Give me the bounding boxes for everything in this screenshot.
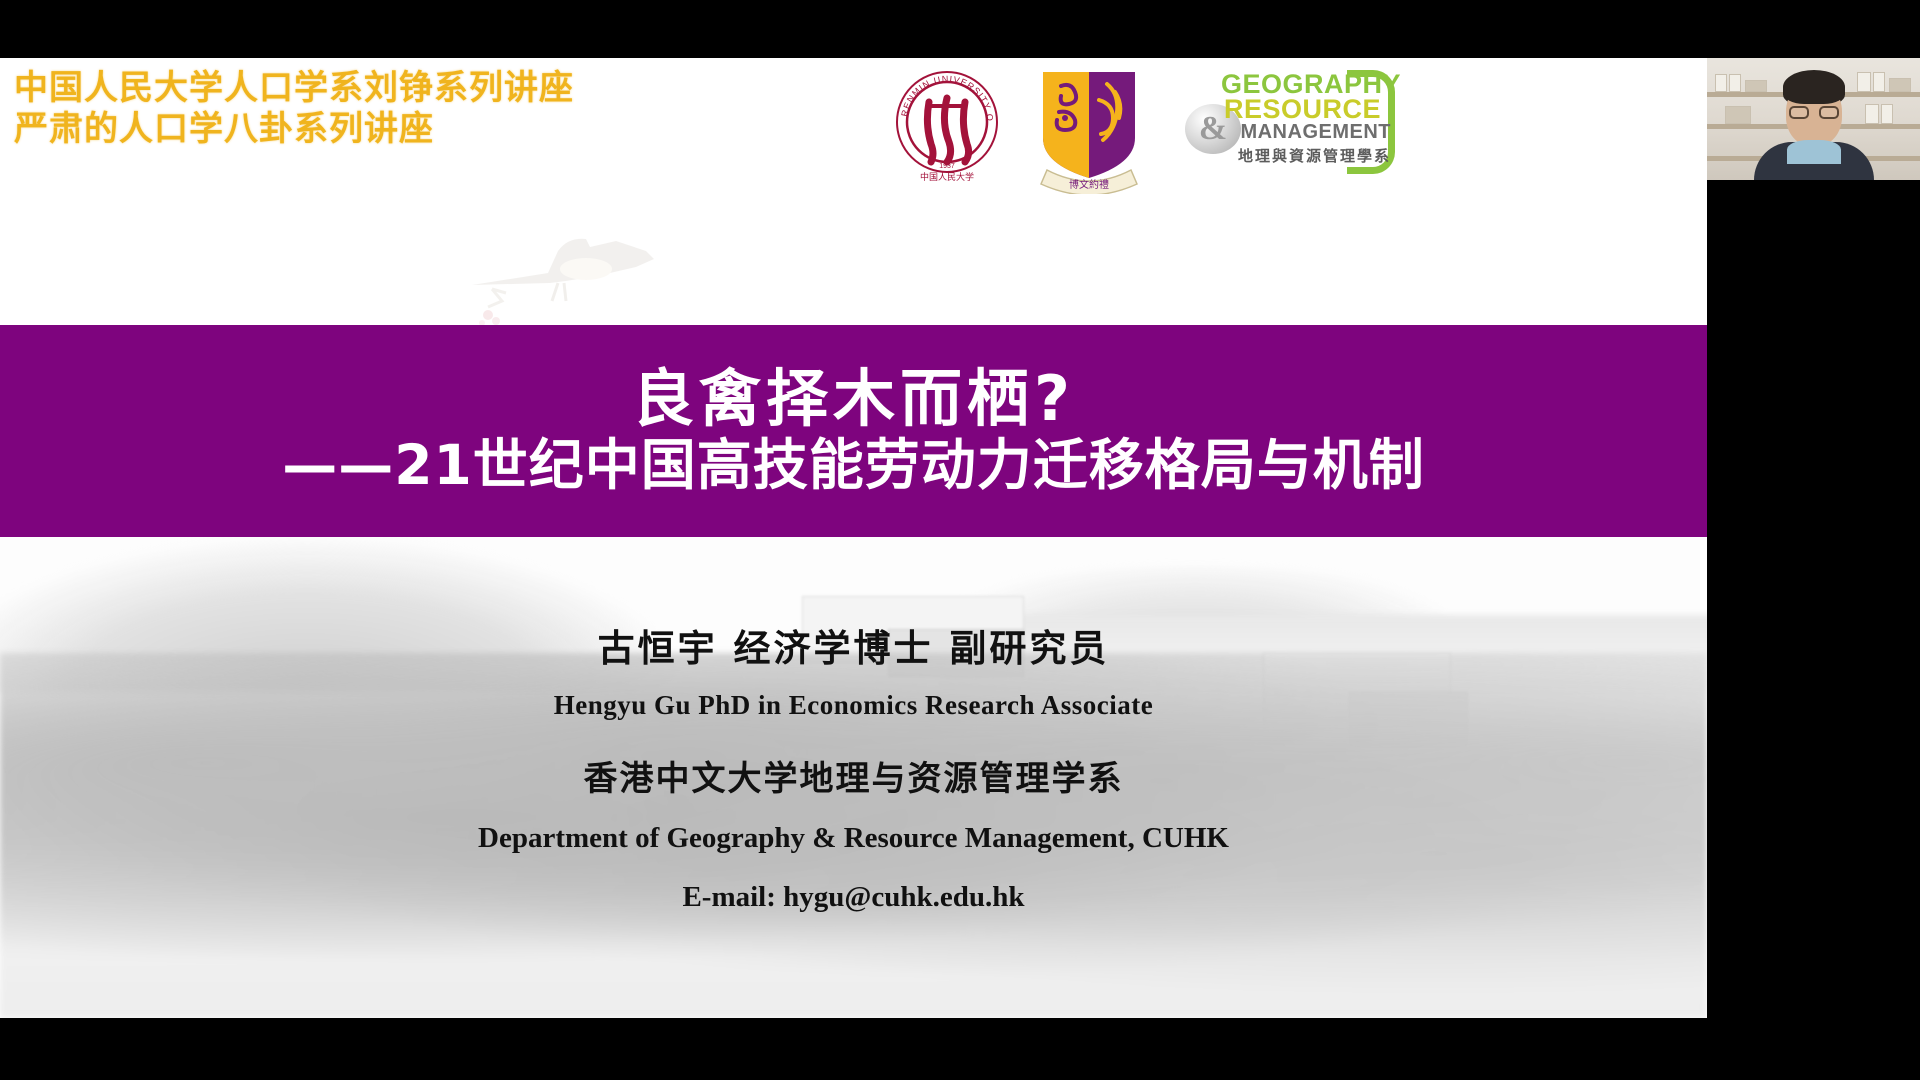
grm-logo-line-chinese: 地理與資源管理學系 (1221, 142, 1397, 166)
author-name-cn: 古恒宇 经济学博士 副研究员 (0, 618, 1707, 672)
magpie-bird-icon (440, 223, 670, 333)
letterbox-right-bar (1707, 180, 1920, 1018)
logo-strip: RENMIN UNIVERSITY OF CHINA 1937 中国人民大学 (891, 66, 1395, 216)
presenter-video-tile[interactable] (1707, 58, 1920, 180)
lecture-series-line-2: 严肃的人口学八卦系列讲座 (14, 109, 574, 150)
screen-root: 中国人民大学人口学系刘铮系列讲座 严肃的人口学八卦系列讲座 (0, 0, 1920, 1080)
lecture-series-titles: 中国人民大学人口学系刘铮系列讲座 严肃的人口学八卦系列讲座 (14, 68, 574, 151)
letterbox-bottom-bar (0, 1018, 1920, 1080)
svg-text:1937: 1937 (939, 163, 955, 170)
svg-text:博文約禮: 博文約禮 (1069, 178, 1109, 191)
grm-logo-line-management: MANAGEMENT (1221, 123, 1397, 142)
grm-logo-line-resource: RESOURCE (1221, 97, 1397, 122)
lecture-series-line-1: 中国人民大学人口学系刘铮系列讲座 (14, 68, 574, 109)
grm-department-logo-icon: & GEOGRAPHY RESOURCE MANAGEMENT 地理與資源管理學… (1175, 66, 1395, 194)
author-email: E-mail: hygu@cuhk.edu.hk (0, 881, 1707, 914)
slide-title-main: 良禽择木而栖? (632, 366, 1075, 431)
presentation-slide[interactable]: 中国人民大学人口学系刘铮系列讲座 严肃的人口学八卦系列讲座 (0, 58, 1707, 1018)
author-department-en: Department of Geography & Resource Manag… (0, 822, 1707, 855)
presenter-glasses-icon (1789, 106, 1839, 119)
slide-header: 中国人民大学人口学系刘铮系列讲座 严肃的人口学八卦系列讲座 (0, 58, 1707, 325)
author-department-cn: 香港中文大学地理与资源管理学系 (0, 751, 1707, 800)
author-name-en: Hengyu Gu PhD in Economics Research Asso… (0, 690, 1707, 721)
letterbox-top-bar (0, 0, 1920, 58)
author-block: 古恒宇 经济学博士 副研究员 Hengyu Gu PhD in Economic… (0, 618, 1707, 914)
slide-title-banner: 良禽择木而栖? ——21世纪中国高技能劳动力迁移格局与机制 (0, 325, 1707, 537)
svg-text:中国人民大学: 中国人民大学 (920, 171, 974, 183)
slide-title-subtitle: ——21世纪中国高技能劳动力迁移格局与机制 (282, 435, 1425, 496)
renmin-university-logo-icon: RENMIN UNIVERSITY OF CHINA 1937 中国人民大学 (891, 66, 1003, 184)
cuhk-shield-logo-icon: 博文約禮 (1029, 66, 1149, 194)
